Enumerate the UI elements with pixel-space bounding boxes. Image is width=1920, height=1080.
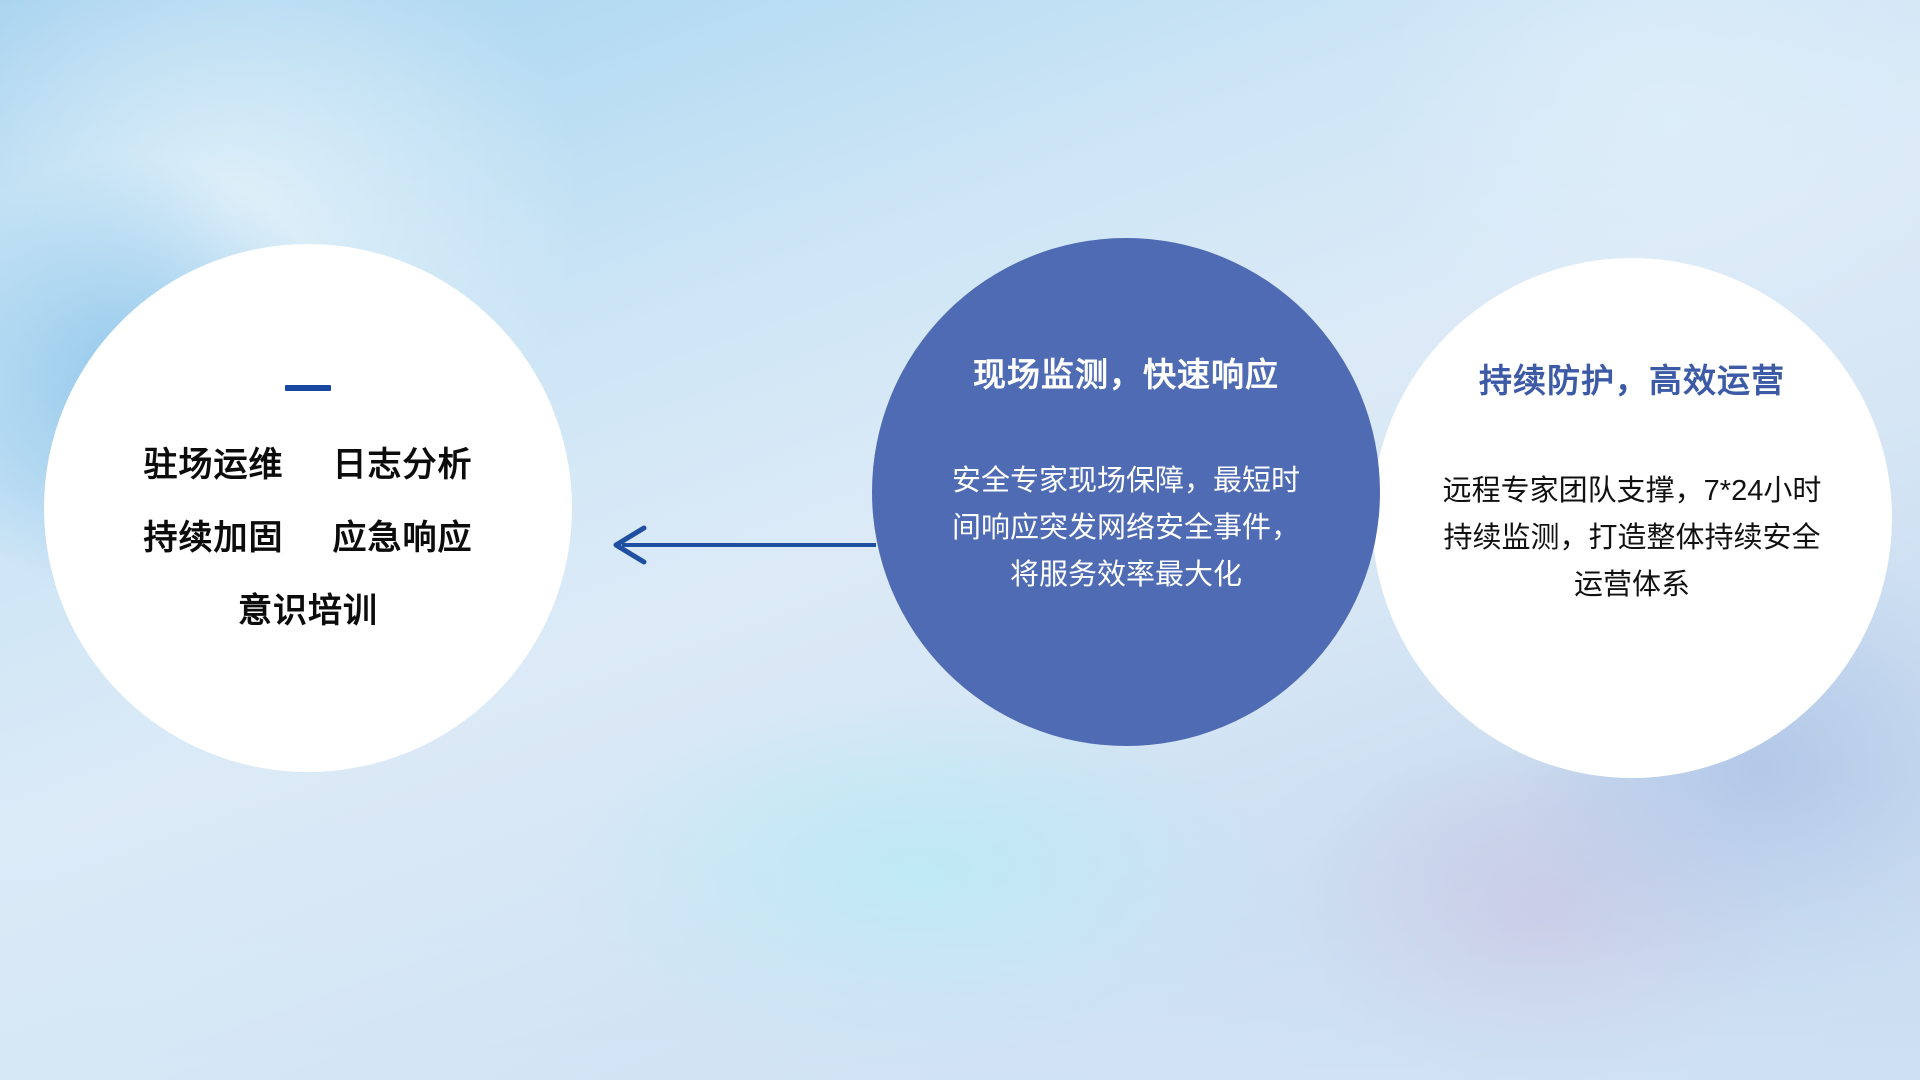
right-circle-title: 持续防护，高效运营	[1479, 354, 1785, 402]
capability-item-5: 意识培训	[238, 592, 378, 630]
left-capability-circle[interactable]: 驻场运维 日志分析 持续加固 应急响应 意识培训	[44, 244, 572, 772]
right-circle-body: 远程专家团队支撑，7*24小时持续监测，打造整体持续安全运营体系	[1432, 468, 1832, 609]
background-glow-bottom-band	[0, 780, 1920, 1080]
capability-list: 驻场运维 日志分析 持续加固 应急响应 意识培训	[144, 437, 473, 632]
capability-item-2: 日志分析	[332, 446, 472, 484]
capability-row-1: 驻场运维 日志分析	[144, 437, 473, 486]
capability-item-3: 持续加固	[144, 519, 284, 557]
middle-circle-body: 安全专家现场保障，最短时间响应突发网络安全事件，将服务效率最大化	[940, 458, 1312, 599]
middle-monitoring-circle[interactable]: 现场监测，快速响应 安全专家现场保障，最短时间响应突发网络安全事件，将服务效率最…	[872, 238, 1380, 746]
capability-row-3: 意识培训	[238, 583, 378, 632]
right-operations-circle[interactable]: 持续防护，高效运营 远程专家团队支撑，7*24小时持续监测，打造整体持续安全运营…	[1372, 258, 1892, 778]
capability-item-4: 应急响应	[332, 519, 472, 557]
arrow-left-icon	[600, 515, 880, 575]
horizontal-rule-icon	[285, 385, 331, 391]
middle-circle-title: 现场监测，快速响应	[973, 348, 1279, 396]
capability-row-2: 持续加固 应急响应	[144, 510, 473, 559]
capability-item-1: 驻场运维	[144, 446, 284, 484]
slide-canvas: 驻场运维 日志分析 持续加固 应急响应 意识培训 持续防护，高效运营 远程专家团…	[0, 0, 1920, 1080]
